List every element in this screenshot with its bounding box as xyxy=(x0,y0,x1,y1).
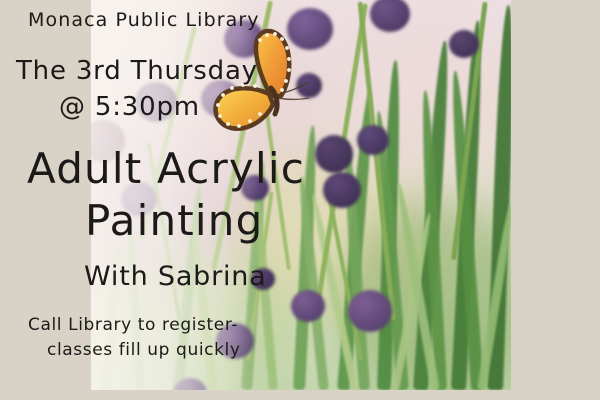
library-name: Monaca Public Library xyxy=(28,9,260,31)
registration-note-line2: classes fill up quickly xyxy=(47,340,241,360)
poster-title-line2: Painting xyxy=(85,196,263,245)
poster-title-line1: Adult Acrylic xyxy=(27,144,305,193)
schedule-day: The 3rd Thursday xyxy=(16,56,258,86)
instructor-name: With Sabrina xyxy=(84,261,267,292)
poster-text-layer: Monaca Public Library The 3rd Thursday @… xyxy=(0,0,600,400)
schedule-time: @ 5:30pm xyxy=(59,92,200,122)
poster-canvas: Monaca Public Library The 3rd Thursday @… xyxy=(0,0,600,400)
registration-note-line1: Call Library to register- xyxy=(28,315,238,335)
